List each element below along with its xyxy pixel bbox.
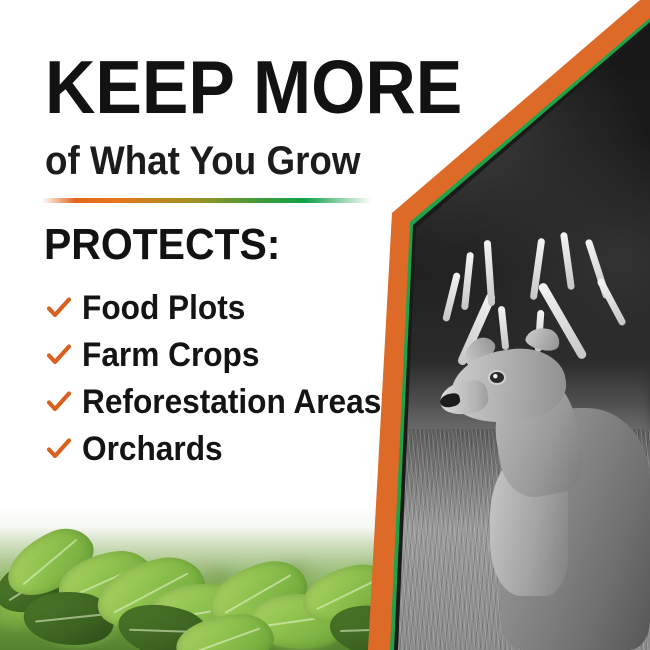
check-icon — [46, 436, 72, 462]
list-item: Farm Crops — [46, 331, 404, 378]
promotional-banner: KEEP MORE of What You Grow PROTECTS: Foo… — [0, 0, 650, 650]
deer-eye — [490, 372, 504, 383]
subheadline: of What You Grow — [45, 139, 361, 183]
antler-tine-right-4 — [596, 277, 627, 326]
antler-brow-tine-left — [498, 306, 510, 350]
crop-field-photo — [0, 465, 420, 650]
check-icon — [46, 295, 72, 321]
list-item: Reforestation Areas — [46, 378, 404, 425]
list-item: Orchards — [46, 425, 404, 472]
list-item-label: Reforestation Areas — [82, 384, 381, 420]
whitetail-buck — [438, 232, 650, 650]
gradient-divider — [42, 198, 372, 203]
headline: KEEP MORE — [45, 48, 462, 126]
antler-tine-left-2 — [461, 252, 474, 310]
list-item: Food Plots — [46, 284, 404, 331]
check-icon — [46, 342, 72, 368]
protects-list: Food Plots Farm Crops Reforestation Area… — [46, 284, 404, 472]
list-item-label: Orchards — [82, 431, 223, 467]
antler-tine-right-2 — [560, 232, 575, 290]
antler-tine-left-1 — [442, 272, 461, 322]
list-item-label: Food Plots — [82, 290, 245, 326]
check-icon — [46, 389, 72, 415]
list-item-label: Farm Crops — [82, 337, 259, 373]
section-title: PROTECTS: — [44, 221, 280, 269]
